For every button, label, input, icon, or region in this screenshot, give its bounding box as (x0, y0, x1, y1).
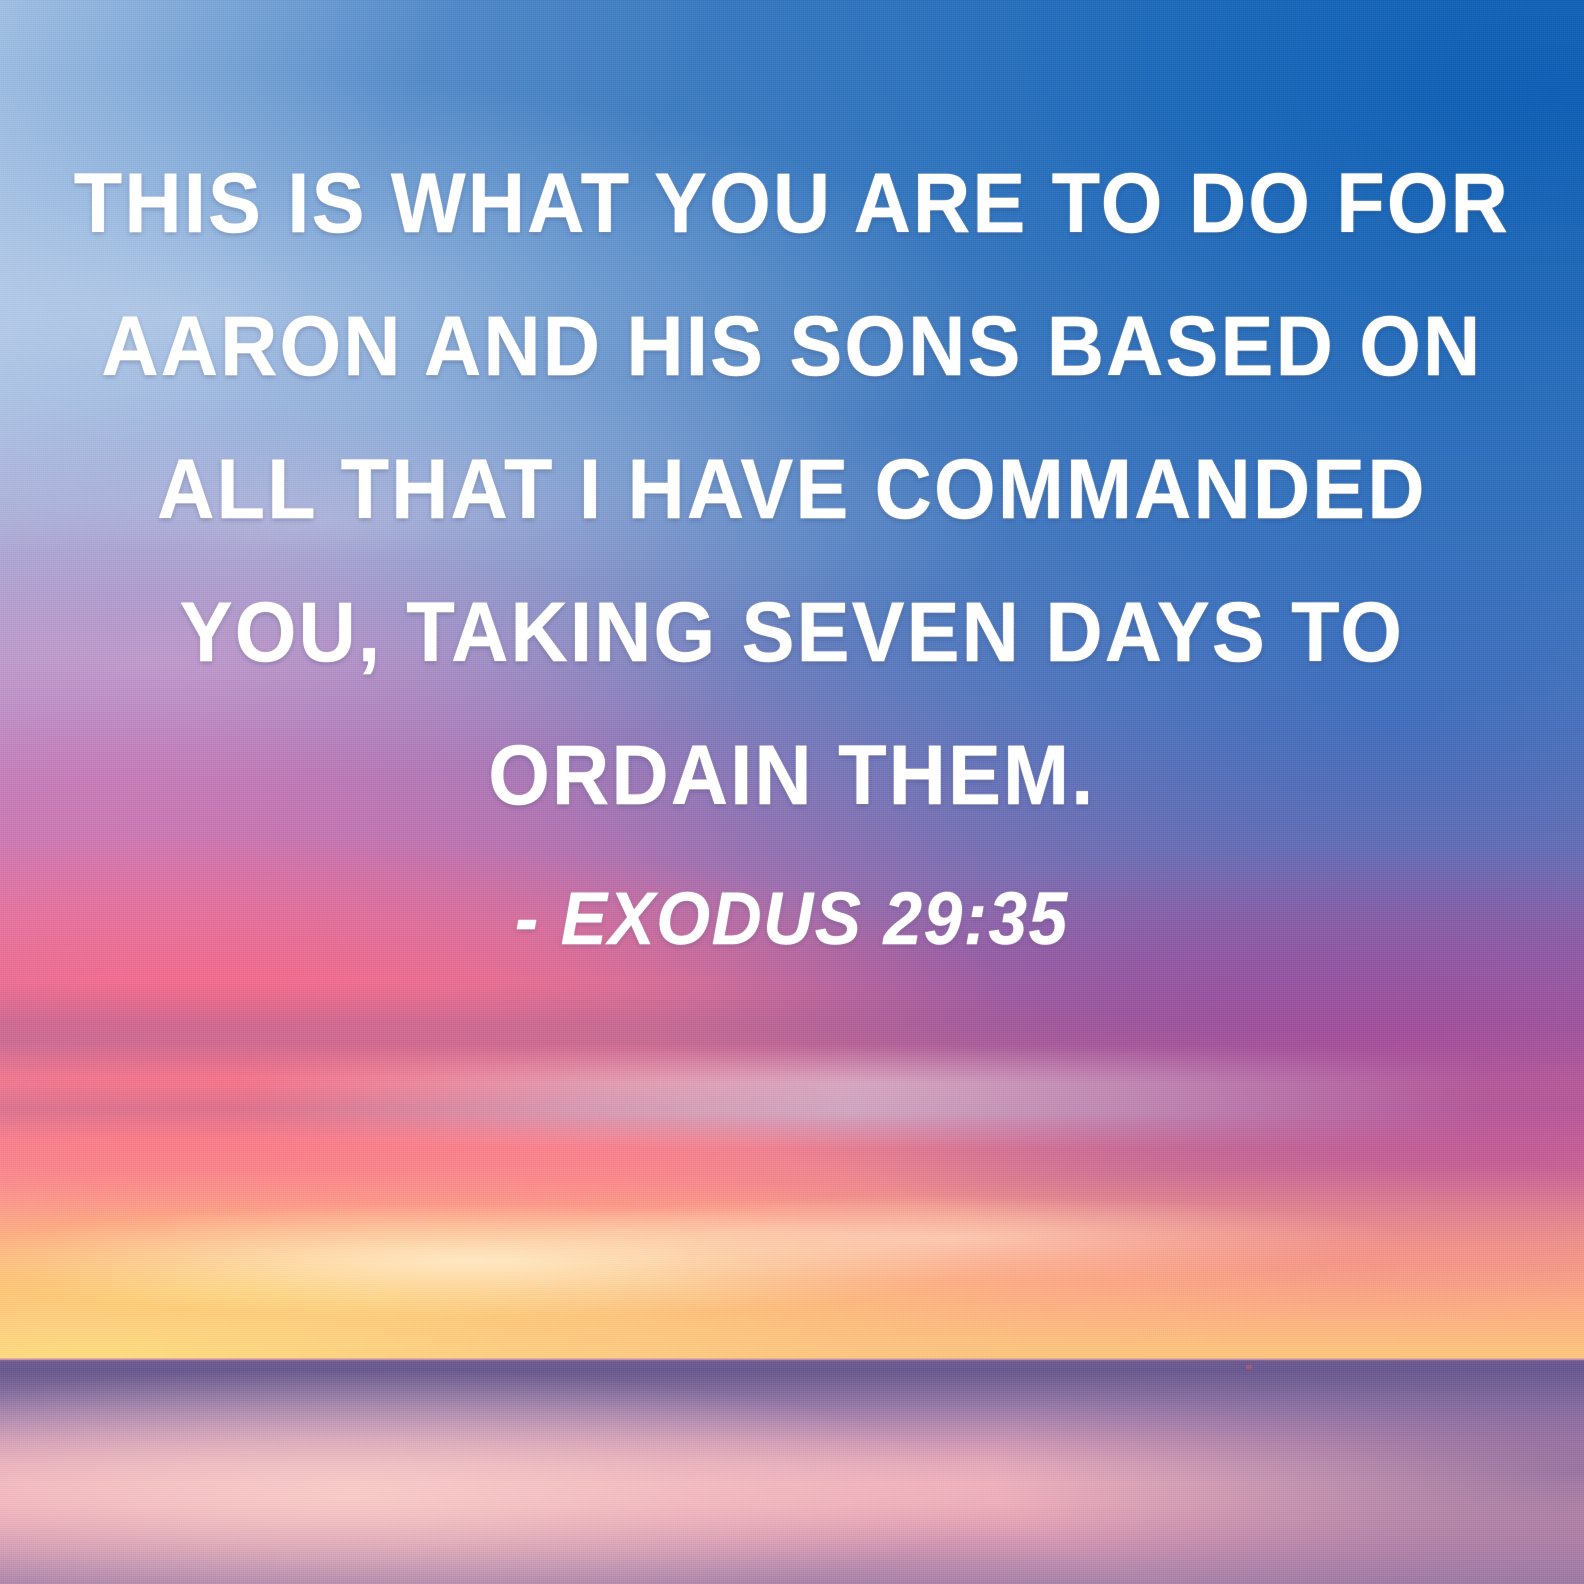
verse-line-2: Aaron and his sons based on (48, 275, 1537, 418)
ocean-shadow-right (0, 1360, 1584, 1584)
verse-image-card: This is what you are to do for Aaron and… (0, 0, 1584, 1584)
horizon-line (0, 1358, 1584, 1361)
verse-line-5: ordain them. (48, 704, 1537, 847)
verse-line-3: all that I have commanded (48, 418, 1537, 561)
verse-attribution: - Exodus 29:35 (55, 876, 1528, 961)
verse-text-block: This is what you are to do for Aaron and… (0, 132, 1584, 847)
verse-line-1: This is what you are to do for (48, 132, 1537, 275)
verse-line-4: you, taking seven days to (48, 561, 1537, 704)
distant-boat-speck (1246, 1365, 1252, 1369)
